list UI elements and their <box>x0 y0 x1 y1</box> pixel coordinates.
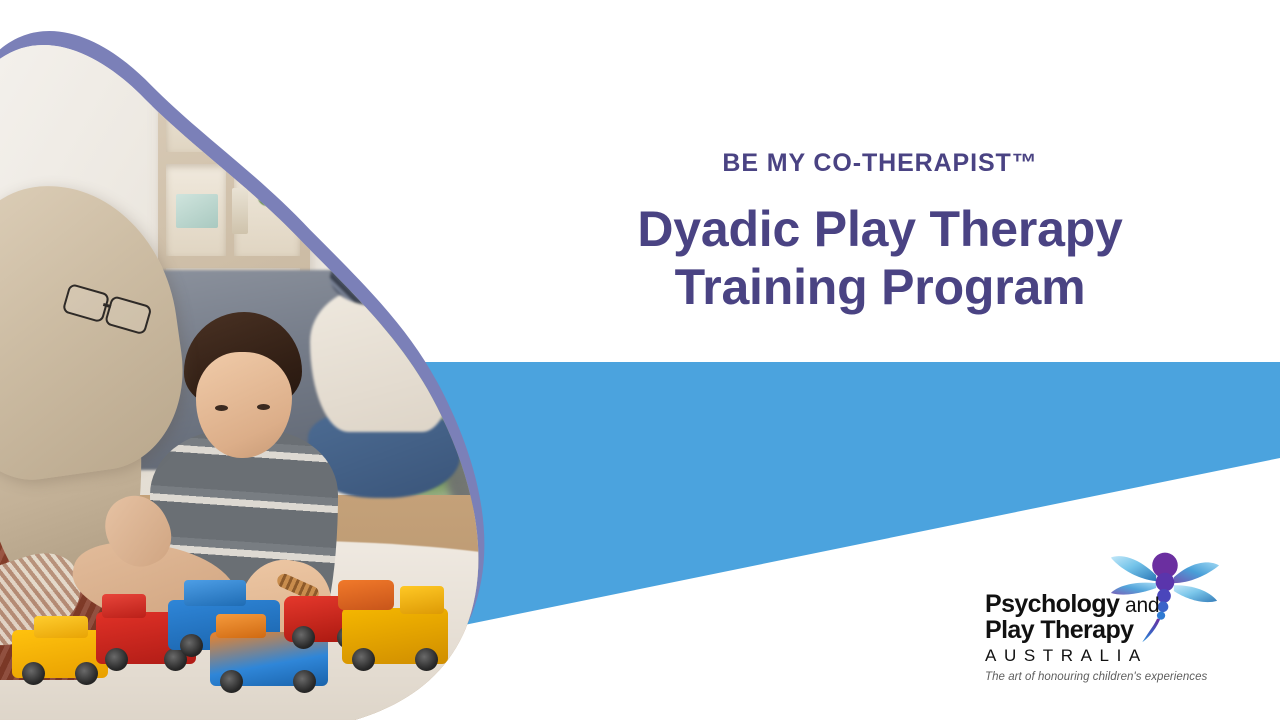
hero-photo-blob <box>0 18 531 720</box>
logo-line-2: Play Therapy <box>985 618 1175 644</box>
page-title-line-2: Training Program <box>560 258 1200 316</box>
photo-toy-yellow-dump-truck <box>342 608 448 664</box>
logo-line-1: Psychology and <box>985 592 1175 618</box>
headline-block: BE MY CO-THERAPIST™ Dyadic Play Therapy … <box>560 150 1200 316</box>
logo-wordmark: Psychology and Play Therapy AUSTRALIA Th… <box>985 592 1175 683</box>
photo-scene <box>0 32 516 720</box>
brand-logo: Psychology and Play Therapy AUSTRALIA Th… <box>985 540 1217 685</box>
photo-toy-yellow-car <box>12 630 108 678</box>
program-eyebrow-label: BE MY CO-THERAPIST™ <box>560 150 1200 178</box>
blob-photo-mask <box>0 32 516 720</box>
logo-word-and: and <box>1119 594 1159 617</box>
logo-line-3-australia: AUSTRALIA <box>985 646 1175 666</box>
hero-photo <box>0 32 516 720</box>
photo-bg-woman-hair <box>344 185 418 259</box>
promotional-banner: BE MY CO-THERAPIST™ Dyadic Play Therapy … <box>0 0 1280 720</box>
logo-word-psychology: Psychology <box>985 590 1119 618</box>
page-title-line-1: Dyadic Play Therapy <box>560 200 1200 258</box>
photo-boy-eye-right <box>257 404 270 410</box>
logo-tagline: The art of honouring children's experien… <box>985 671 1175 683</box>
photo-boy-eye-left <box>215 405 228 411</box>
page-title: Dyadic Play Therapy Training Program <box>560 200 1200 316</box>
photo-bg-woman-face <box>356 206 408 266</box>
